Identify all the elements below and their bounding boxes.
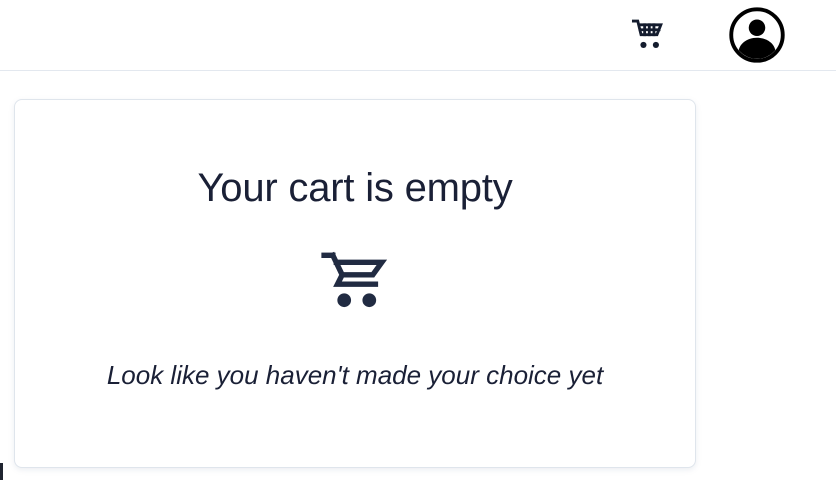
empty-cart-subtitle: Look like you haven't made your choice y…: [107, 362, 603, 388]
header-actions: [631, 5, 836, 65]
empty-cart-illustration: [319, 248, 391, 318]
site-header: [0, 0, 836, 71]
account-circle-icon: [727, 5, 787, 65]
viewport-edge-artifact: [0, 463, 3, 480]
cart-button[interactable]: [631, 17, 667, 53]
shopping-cart-outline-icon: [319, 248, 391, 318]
account-button[interactable]: [727, 5, 787, 65]
shopping-cart-icon: [631, 17, 667, 53]
page-title: Your cart is empty: [197, 168, 512, 208]
empty-cart-card: Your cart is empty Look like you haven't…: [14, 99, 696, 468]
